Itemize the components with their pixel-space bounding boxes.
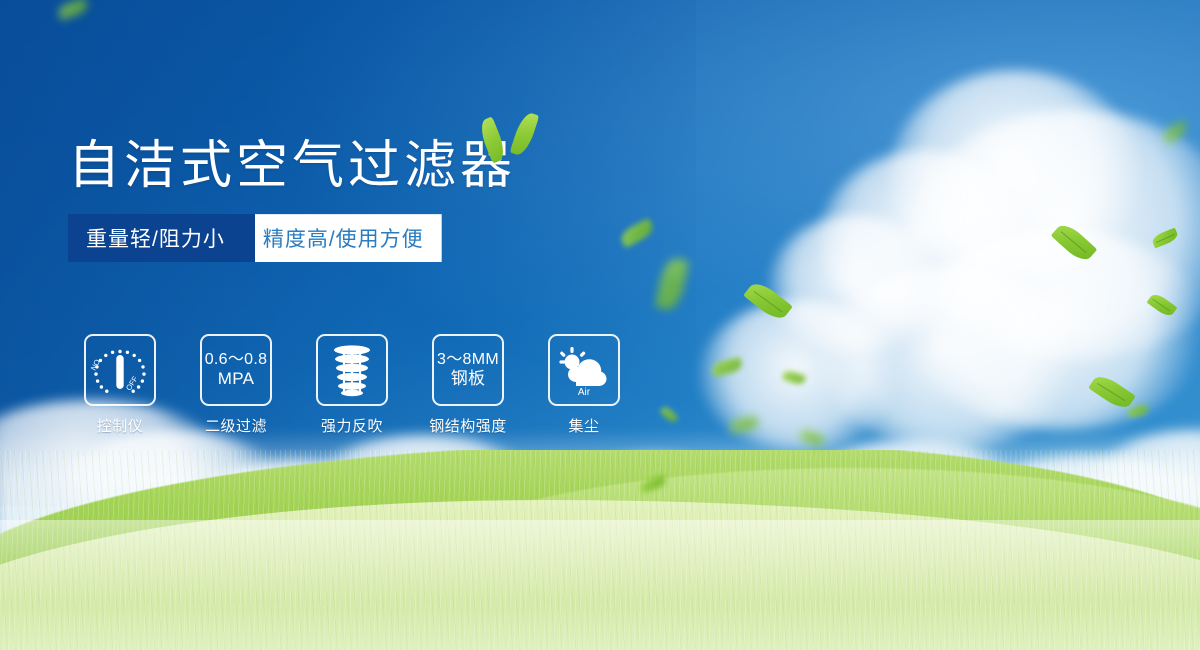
page-title: 自洁式空气过滤器 — [68, 138, 708, 194]
feature-caption: 控制仪 — [97, 415, 144, 436]
sprout-leaves-icon — [476, 110, 556, 170]
pressure-text-icon: 0.6～0.8 MPA — [205, 351, 268, 390]
feature-list: NO OFF 控制仪 0.6～0.8 MPA 二级过滤 — [72, 334, 632, 436]
gauge-label-off: OFF — [124, 374, 140, 392]
feature-item-steel[interactable]: 3～8MM 钢板 钢结构强度 — [420, 334, 516, 436]
cloud-sun-air-icon: Air — [554, 342, 614, 398]
feature-item-pressure[interactable]: 0.6～0.8 MPA 二级过滤 — [188, 334, 284, 436]
pressure-range-value: 0.6～0.8 — [205, 351, 268, 370]
steel-plate-text-icon: 3～8MM 钢板 — [437, 351, 499, 390]
feature-icon-box: Air — [548, 334, 620, 406]
sprout-leaf-left — [476, 116, 508, 163]
tagline-badge-primary: 重量轻/阻力小 — [68, 214, 255, 262]
tagline-badges: 重量轻/阻力小 精度高/使用方便 — [68, 214, 466, 262]
air-label: Air — [578, 387, 591, 398]
feature-caption: 强力反吹 — [321, 415, 383, 436]
feature-caption: 二级过滤 — [205, 415, 267, 436]
headline-block: 自洁式空气过滤器 重量轻/阻力小 精度高/使用方便 — [68, 138, 708, 262]
feature-icon-box: 0.6～0.8 MPA — [200, 334, 272, 406]
tagline-badge-secondary-label: 精度高/使用方便 — [263, 223, 424, 253]
grass-sheen — [0, 520, 1200, 650]
grass-field — [0, 450, 1200, 650]
steel-thickness-value: 3～8MM — [437, 351, 499, 370]
tagline-badge-primary-label: 重量轻/阻力小 — [86, 223, 225, 253]
feature-icon-box — [316, 334, 388, 406]
steel-material-label: 钢板 — [437, 369, 499, 389]
tagline-badge-secondary: 精度高/使用方便 — [237, 214, 442, 262]
filter-cartridge-icon — [326, 342, 378, 398]
feature-icon-box: NO OFF — [84, 334, 156, 406]
pressure-unit: MPA — [205, 369, 268, 389]
feature-icon-box: 3～8MM 钢板 — [432, 334, 504, 406]
feature-caption: 集尘 — [568, 415, 599, 436]
feature-item-backblow[interactable]: 强力反吹 — [304, 334, 400, 436]
feature-item-dust[interactable]: Air 集尘 — [536, 334, 632, 436]
sprout-leaf-right — [510, 110, 540, 157]
feature-caption: 钢结构强度 — [429, 415, 507, 436]
gauge-dial-icon: NO OFF — [90, 341, 150, 399]
product-banner: 自洁式空气过滤器 重量轻/阻力小 精度高/使用方便 — [0, 0, 1200, 650]
feature-item-controller[interactable]: NO OFF 控制仪 — [72, 334, 168, 436]
